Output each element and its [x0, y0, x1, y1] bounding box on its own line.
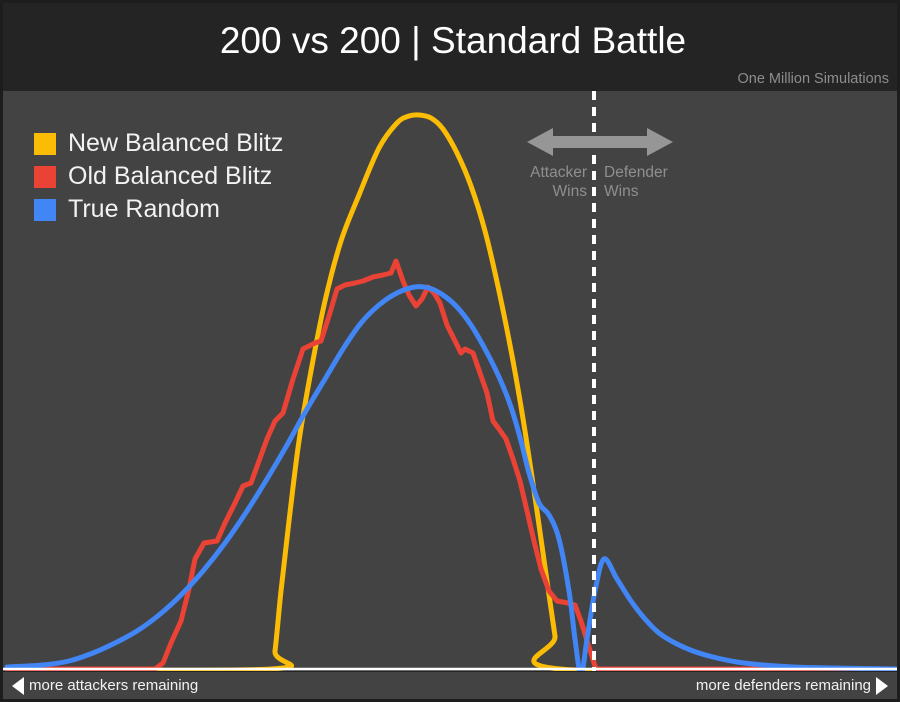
legend-label: True Random: [68, 197, 220, 222]
chart-legend: New Balanced Blitz Old Balanced Blitz Tr…: [34, 127, 283, 226]
legend-item-new-balanced-blitz[interactable]: New Balanced Blitz: [34, 127, 283, 160]
plot-area: New Balanced Blitz Old Balanced Blitz Tr…: [3, 91, 897, 671]
series-line-true-random: [7, 287, 897, 671]
chart-subtitle: One Million Simulations: [737, 71, 889, 87]
axis-direction-bar: more attackers remaining more defenders …: [3, 672, 897, 699]
page-title: 200 vs 200 | Standard Battle: [3, 20, 900, 62]
legend-swatch-icon: [34, 199, 56, 221]
arrow-left-icon: [12, 677, 24, 695]
legend-label: Old Balanced Blitz: [68, 164, 272, 189]
chart-window: 200 vs 200 | Standard Battle One Million…: [0, 0, 900, 702]
legend-item-true-random[interactable]: True Random: [34, 193, 283, 226]
legend-label: New Balanced Blitz: [68, 131, 283, 156]
more-defenders-remaining: more defenders remaining: [696, 672, 888, 699]
legend-swatch-icon: [34, 133, 56, 155]
legend-item-old-balanced-blitz[interactable]: Old Balanced Blitz: [34, 160, 283, 193]
more-attackers-remaining: more attackers remaining: [12, 672, 198, 699]
series-line-old-balanced-blitz: [7, 261, 897, 669]
legend-swatch-icon: [34, 166, 56, 188]
chart-header: 200 vs 200 | Standard Battle One Million…: [3, 3, 900, 91]
arrow-right-icon: [876, 677, 888, 695]
footer-right-label: more defenders remaining: [696, 677, 871, 694]
footer-left-label: more attackers remaining: [29, 677, 198, 694]
